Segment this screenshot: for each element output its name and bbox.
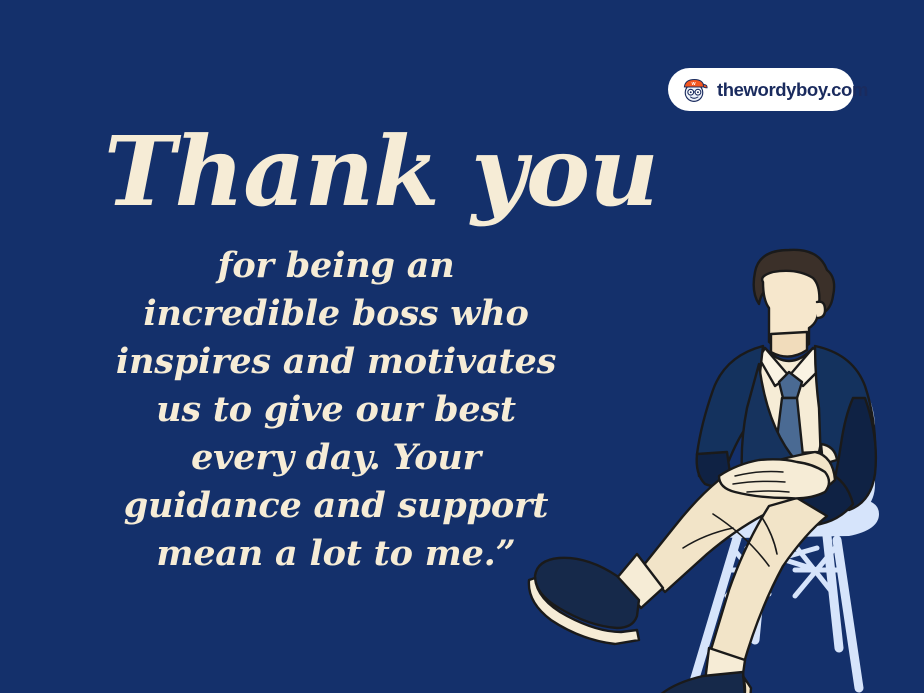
hands [719, 459, 829, 498]
page-title: Thank you [104, 124, 574, 220]
seated-businessman-illustration [497, 248, 924, 693]
brand-url-text: thewordyboy.com [717, 79, 868, 101]
neck [771, 332, 807, 357]
poster-canvas: W thewordyboy.com Thank you for being an… [0, 0, 924, 693]
brand-watermark-pill[interactable]: W thewordyboy.com [668, 68, 854, 111]
wordyboy-mascot-icon: W [680, 76, 708, 104]
ear [817, 302, 825, 318]
